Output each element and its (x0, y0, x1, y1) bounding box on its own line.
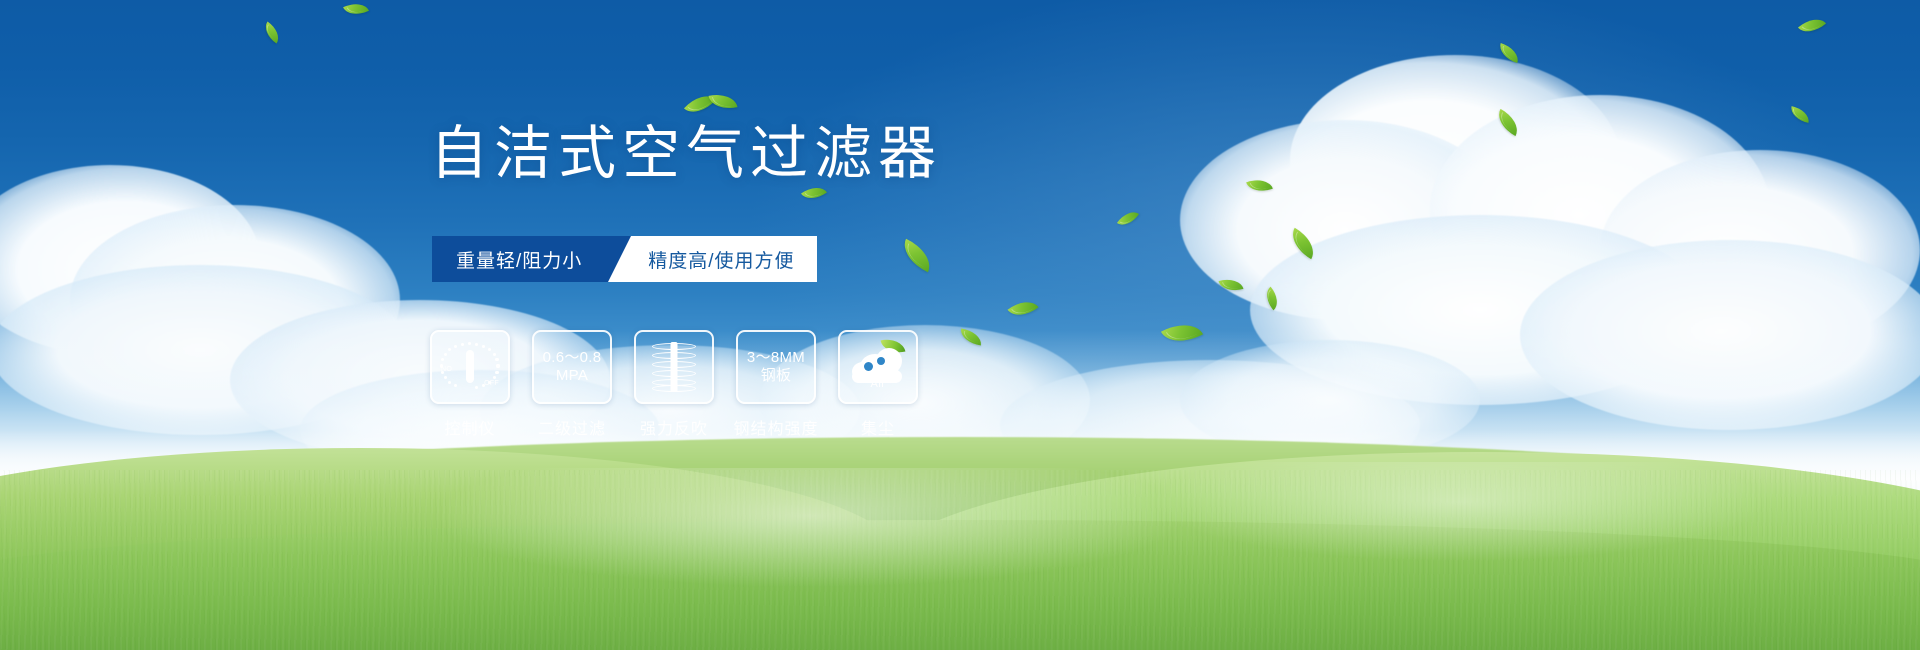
tagline-primary: 重量轻/阻力小 (432, 236, 608, 282)
banner-content: 自洁式空气过滤器 重量轻/阻力小 精度高/使用方便 (0, 0, 1920, 650)
tagline-secondary: 精度高/使用方便 (608, 236, 816, 282)
feature-item-dust[interactable]: Air 集尘 (838, 330, 918, 439)
tagline-bar: 重量轻/阻力小 精度高/使用方便 (432, 236, 817, 282)
dial-off-label: OFF (484, 380, 499, 387)
feature-icon-box: 0.6〜0.8 MPA (532, 330, 612, 404)
feature-list: NO OFF 控制仪 0.6〜0.8 MPA 二级过滤 (430, 330, 918, 439)
cloud-cutout (864, 362, 873, 371)
feature-icon-box: 3〜8MM 钢板 (736, 330, 816, 404)
feature-label: 控制仪 (444, 415, 495, 439)
cloud-air-icon: Air (850, 342, 906, 392)
pressure-value-line1: 0.6〜0.8 (543, 349, 602, 367)
product-banner: 自洁式空气过滤器 重量轻/阻力小 精度高/使用方便 (0, 0, 1920, 650)
feature-item-steel[interactable]: 3〜8MM 钢板 钢结构强度 (736, 330, 816, 439)
feature-label: 强力反吹 (640, 415, 708, 439)
feature-item-pressure[interactable]: 0.6〜0.8 MPA 二级过滤 (532, 330, 612, 439)
feature-item-backblow[interactable]: 强力反吹 (634, 330, 714, 439)
steel-value-line2: 钢板 (761, 367, 792, 385)
dial-on-label: NO (441, 366, 452, 373)
feature-label: 钢结构强度 (734, 415, 819, 439)
feature-label: 二级过滤 (538, 415, 606, 439)
steel-value-line1: 3〜8MM (747, 349, 805, 367)
dial-pointer (466, 350, 474, 383)
feature-icon-box (634, 330, 714, 404)
feature-icon-box: Air (838, 330, 918, 404)
feature-icon-box: NO OFF (430, 330, 510, 404)
feature-label: 集尘 (861, 415, 895, 439)
control-dial-icon: NO OFF (442, 341, 498, 393)
cloud-cutout (877, 357, 885, 365)
pressure-value-line2: MPA (556, 367, 588, 385)
page-title: 自洁式空气过滤器 (430, 122, 942, 186)
coil-filter-icon (652, 342, 696, 392)
feature-item-controller[interactable]: NO OFF 控制仪 (430, 330, 510, 439)
air-label: Air (850, 378, 906, 390)
